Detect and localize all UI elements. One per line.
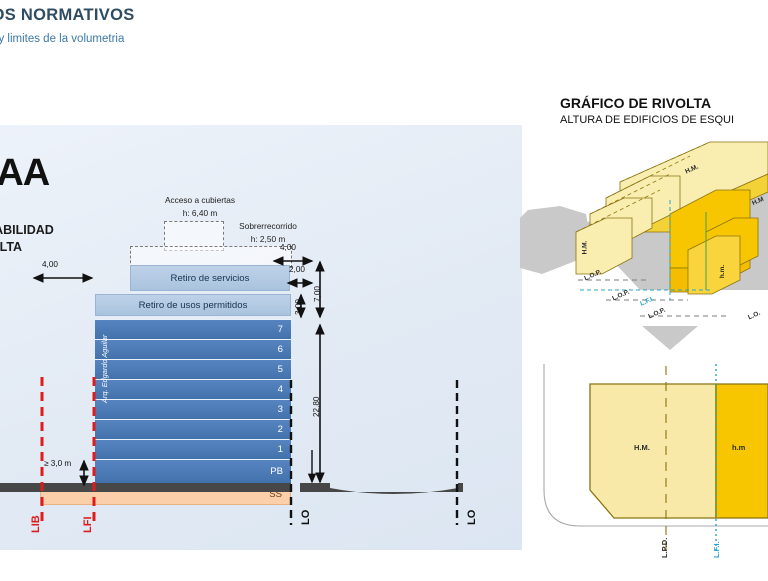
plan-svg: [520, 330, 768, 576]
plan-label-hm-small: h.m: [732, 443, 745, 452]
plan-label-hm: H.M.: [634, 443, 650, 452]
lo-leader-arrow: [306, 450, 318, 486]
boundary-label-lo-left: LO: [300, 510, 312, 525]
plan-label-lfi: L.F.I.: [712, 541, 721, 558]
boundary-label-lfi: LFI: [82, 517, 94, 534]
page-title: ECTOS NORMATIVOS: [0, 6, 135, 25]
boundary-label-lib: LIB: [30, 515, 42, 533]
isometric-volume-graphic: H.M. H.M H.M. h.m. L.O.P. L.O.P. L.O.P. …: [520, 140, 768, 335]
iso-label-hm-side: H.M.: [581, 241, 588, 255]
boundary-lines: [0, 125, 520, 555]
plan-view-graphic: H.M. h.m L.P.D. L.F.I.: [520, 330, 768, 576]
slide-root: ECTOS NORMATIVOS bilidad y limites de la…: [0, 0, 768, 576]
boundary-label-lo-right: LO: [466, 510, 478, 525]
plan-label-lpd: L.P.D.: [660, 538, 669, 558]
iso-label-hm-small: h.m.: [719, 265, 726, 278]
building-section-diagram: Acceso a cubiertas h: 6,40 m Sobrerrecor…: [0, 125, 520, 555]
rivolta-graphic-subtitle: ALTURA DE EDIFICIOS DE ESQUI: [560, 114, 768, 126]
rivolta-graphic-title: GRÁFICO DE RIVOLTA: [560, 95, 768, 111]
page-subtitle: bilidad y limites de la volumetria: [0, 33, 124, 45]
